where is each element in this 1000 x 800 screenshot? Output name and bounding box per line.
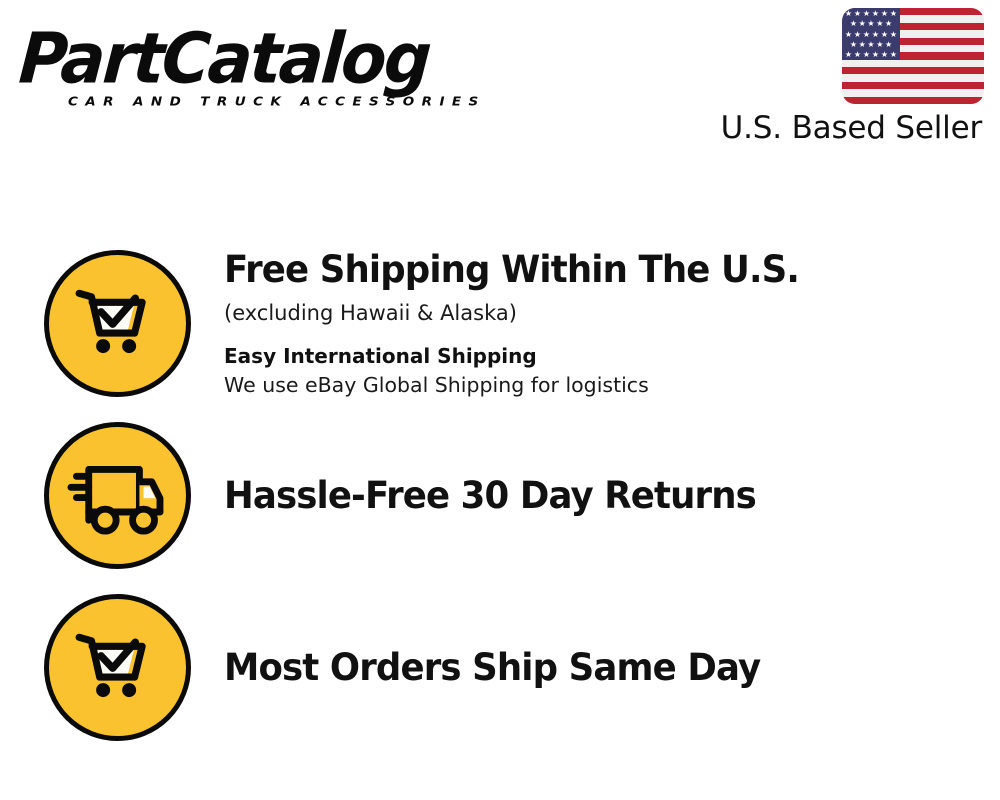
flag-star: ★ (885, 20, 892, 28)
feature-subtext: We use eBay Global Shipping for logistic… (224, 371, 980, 399)
flag-star: ★ (859, 20, 866, 28)
flag-star: ★ (850, 20, 857, 28)
flag-star: ★ (859, 41, 866, 49)
page-header: PartCatalog CAR AND TRUCK ACCESSORIES ★ … (0, 0, 1000, 175)
flag-star: ★ (876, 41, 883, 49)
flag-star: ★ (890, 10, 897, 18)
feature-badge (44, 422, 191, 569)
us-flag-icon: ★ ★ ★ ★ ★ ★ ★ ★ ★ ★ ★ ★ ★ ★ (842, 8, 984, 104)
flag-star: ★ (872, 31, 879, 39)
flag-star: ★ (845, 31, 852, 39)
flag-star: ★ (881, 10, 888, 18)
flag-canton: ★ ★ ★ ★ ★ ★ ★ ★ ★ ★ ★ ★ ★ ★ (842, 8, 900, 60)
feature-text-block: Free Shipping Within The U.S. (excluding… (224, 243, 980, 404)
feature-list: Free Shipping Within The U.S. (excluding… (0, 243, 1000, 759)
flag-star-row: ★ ★ ★ ★ ★ ★ (842, 49, 900, 59)
flag-star: ★ (850, 41, 857, 49)
flag-star: ★ (854, 51, 861, 59)
flag-star: ★ (854, 31, 861, 39)
flag-star-row: ★ ★ ★ ★ ★ ★ (842, 9, 900, 19)
flag-star: ★ (863, 10, 870, 18)
brand-tagline: CAR AND TRUCK ACCESSORIES (68, 94, 492, 109)
flag-star: ★ (885, 41, 892, 49)
shopping-cart-check-icon (49, 599, 186, 736)
flag-star: ★ (867, 20, 874, 28)
delivery-truck-icon (49, 427, 186, 564)
feature-subline: (excluding Hawaii & Alaska) (224, 298, 980, 328)
flag-star: ★ (881, 31, 888, 39)
feature-headline: Free Shipping Within The U.S. (224, 248, 950, 292)
feature-text-block: Most Orders Ship Same Day (224, 587, 980, 748)
flag-star-row: ★ ★ ★ ★ ★ ★ (842, 30, 900, 40)
flag-star: ★ (854, 10, 861, 18)
flag-star: ★ (890, 31, 897, 39)
feature-text-block: Hassle-Free 30 Day Returns (224, 415, 980, 576)
flag-stripe (842, 82, 984, 89)
flag-star: ★ (845, 51, 852, 59)
feature-subhead: Easy International Shipping (224, 342, 980, 370)
flag-stripe (842, 97, 984, 104)
flag-star: ★ (881, 51, 888, 59)
brand-wordmark: PartCatalog (17, 22, 492, 96)
feature-headline: Most Orders Ship Same Day (224, 646, 950, 690)
feature-headline: Hassle-Free 30 Day Returns (224, 474, 950, 518)
feature-row: Hassle-Free 30 Day Returns (0, 415, 1000, 587)
flag-stripe (842, 67, 984, 74)
shopping-cart-check-icon (49, 255, 186, 392)
feature-row: Most Orders Ship Same Day (0, 587, 1000, 759)
flag-star-row: ★ ★ ★ ★ ★ (842, 19, 900, 29)
flag-star: ★ (872, 10, 879, 18)
us-based-seller-label: U.S. Based Seller (714, 111, 982, 145)
feature-row: Free Shipping Within The U.S. (excluding… (0, 243, 1000, 415)
flag-star: ★ (867, 41, 874, 49)
brand-logo[interactable]: PartCatalog CAR AND TRUCK ACCESSORIES (22, 22, 492, 110)
flag-star: ★ (890, 51, 897, 59)
feature-badge (44, 250, 191, 397)
feature-badge (44, 594, 191, 741)
flag-star: ★ (872, 51, 879, 59)
flag-star: ★ (863, 51, 870, 59)
flag-star: ★ (845, 10, 852, 18)
flag-star: ★ (876, 20, 883, 28)
flag-star: ★ (863, 31, 870, 39)
us-based-seller-block: ★ ★ ★ ★ ★ ★ ★ ★ ★ ★ ★ ★ ★ ★ (714, 8, 984, 145)
